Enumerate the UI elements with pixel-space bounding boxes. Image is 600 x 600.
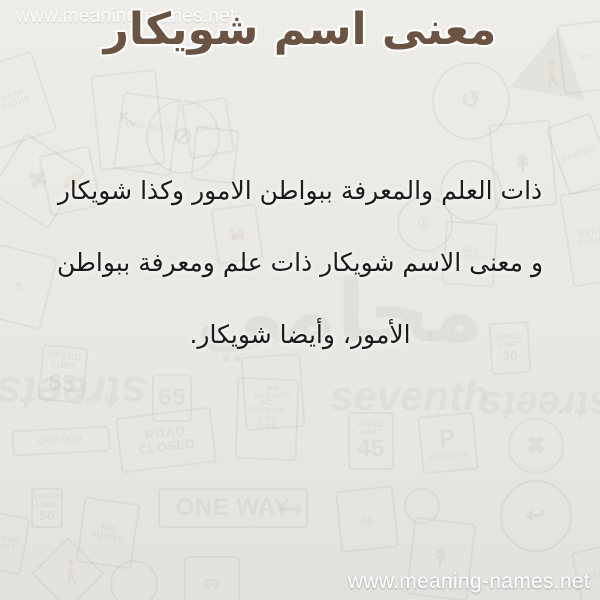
bg-bicycle-glyph: 🚲 [358, 511, 376, 526]
bg-sign-no-parking-center: NO PARKING [240, 353, 305, 431]
bg-sign-speed-edge-left: SPEED LIMIT [0, 511, 31, 575]
bg-sign-text: NO [266, 384, 279, 393]
bg-sign-text: ONLY [196, 122, 219, 134]
bg-sign-text: NO [261, 398, 274, 406]
bg-sign-bus-bottom: 🚌 [184, 556, 240, 600]
bg-uturn-glyph: ↩ [526, 503, 547, 528]
bg-pedestrian-glyph: 🚶 [538, 62, 568, 86]
bg-sign-text: ONE WAY [176, 495, 291, 520]
bg-arrow-glyph: ↔ [262, 430, 272, 440]
bg-sign-no-parking-any-time: NO PARKING ANY TIME ↔ [235, 377, 300, 461]
bg-sign-no-left-turn: ↺ [432, 62, 510, 140]
bg-sign-speed-limit-45: SPEED LIMIT 45 [348, 412, 394, 470]
meaning-line-2: و معنى الاسم شويكار ذات علم ومعرفة ببواط… [30, 250, 570, 275]
bg-sign-text: KEEP [577, 226, 600, 239]
bg-sign-text: 50 [39, 509, 54, 523]
bg-sign-up-arrow-circle: ↑ [110, 560, 158, 600]
bg-sign-text: PARKING [430, 450, 468, 461]
bg-sign-text: SPEED [48, 350, 82, 363]
meaning-text-block: ذات العلم والمعرفة ببواطن الامور وكذا شو… [30, 178, 570, 347]
bg-bus-glyph: 🚌 [204, 575, 221, 589]
bg-sign-no-entry-circle: ⊘ [146, 100, 220, 174]
bg-arrow-glyph: ↑ [131, 577, 138, 591]
bg-sign-right-arrow-circle: → [404, 488, 440, 524]
bg-arrow-glyph: ➞ [276, 492, 305, 526]
bg-sign-text: SPEED [33, 493, 61, 501]
bg-sign-road-closed: ROAD CLOSED [115, 406, 217, 473]
image-canvas: KEEP RIGHT ↖ ONE WAY ← ONLY ⊘ 🍴 ✚ 🚚 🚂 [0, 0, 600, 600]
meaning-line-1: ذات العلم والمعرفة ببواطن الامور وكذا شو… [30, 178, 570, 203]
bg-wordmark-seventh: seventh [330, 372, 489, 420]
bg-sign-text: SPEED [0, 533, 20, 546]
bg-sign-65-mid: SPEED LIMIT 65 [37, 344, 89, 405]
bg-sign-text: LIMIT [36, 501, 58, 509]
bg-sign-text: PARKING [248, 406, 286, 415]
bg-sign-text: P [438, 426, 457, 453]
bg-fork-glyph: 🍴 [206, 147, 224, 162]
bg-split-arrow-glyph: ↟ [429, 545, 453, 573]
bg-arrow-glyph: ↖ [13, 279, 27, 295]
meaning-line-3: الأمور، وأيضا شويكار. [30, 322, 570, 347]
bg-sign-no-bicycles: 🚲 [335, 485, 399, 553]
bg-sign-u-turn-circle: ↩ [500, 480, 572, 552]
bg-sign-text: SPEED [357, 421, 385, 429]
bg-sign-keep-right-top: KEEP RIGHT [0, 50, 57, 149]
bg-sign-text: 65 [47, 369, 77, 397]
bg-sign-one-way-big-bottom: ONE WAY [158, 488, 308, 528]
bg-sign-no-turns: NO TURNS [76, 496, 141, 569]
bg-sign-one-way-lower-left: ONE WAY [11, 425, 110, 456]
bg-wordmark-streets-2: streets [480, 382, 600, 427]
bg-sign-railroad-crossing: ✖ [508, 418, 564, 474]
bg-sign-text: 30 [502, 349, 518, 363]
page-title: معنى اسم شويكار [0, 4, 600, 55]
bg-sign-text: NO [101, 523, 117, 534]
bg-split-arrow-glyph: ↟ [512, 152, 535, 179]
bg-sign-text: LIMIT [360, 428, 382, 436]
bg-sign-text: LIMIT [50, 360, 77, 372]
bg-sign-only: ONLY [180, 96, 235, 159]
bg-sign-text: KEEP [2, 88, 26, 102]
bg-sign-text: ONE WAY [38, 435, 84, 447]
bg-cross-glyph: ✖ [526, 433, 547, 458]
bg-sign-text: PARKING [254, 391, 292, 401]
bg-sign-text: 65 [158, 385, 186, 410]
bg-sign-text: RIGHT [0, 95, 32, 113]
bg-arrow-glyph: ← [139, 131, 154, 146]
bg-sign-speed-limit-50: SPEED LIMIT 50 [31, 488, 63, 528]
bg-pedestrian-glyph: 🚶 [58, 562, 85, 584]
bg-sign-text: RIGHT [577, 235, 600, 249]
bg-sign-text: PARKING [561, 144, 599, 164]
bg-sign-pedestrian-diamond [31, 537, 105, 600]
bg-sign-text: ONE WAY [125, 119, 171, 135]
bg-slash-glyph: ⊘ [173, 124, 194, 149]
bg-sign-text: TIME [257, 422, 277, 431]
bg-arrow-glyph: ↖ [116, 106, 139, 133]
bg-sign-left-turn-arrow: ↖ [90, 69, 166, 171]
bg-wordmark-streets: streets [0, 366, 147, 420]
bg-sign-text: 45 [357, 436, 385, 461]
bg-sign-text: CLOSED [138, 437, 196, 458]
bg-sign-one-way-top: ONE WAY ← [113, 91, 181, 176]
bg-sign-65-top: 65 [152, 374, 192, 422]
bg-no-turn-glyph: ↺ [461, 88, 482, 113]
bg-sign-text: TURNS [90, 531, 124, 545]
watermark-bottom: www.meaning-names.net [348, 570, 590, 594]
bg-sign-text: ROAD [144, 424, 186, 442]
bg-sign-parking: P PARKING [418, 412, 479, 475]
bg-sign-text: LIMIT [0, 541, 16, 553]
bg-sign-text: ANY [258, 414, 276, 422]
bg-arrow-glyph: → [417, 501, 427, 510]
